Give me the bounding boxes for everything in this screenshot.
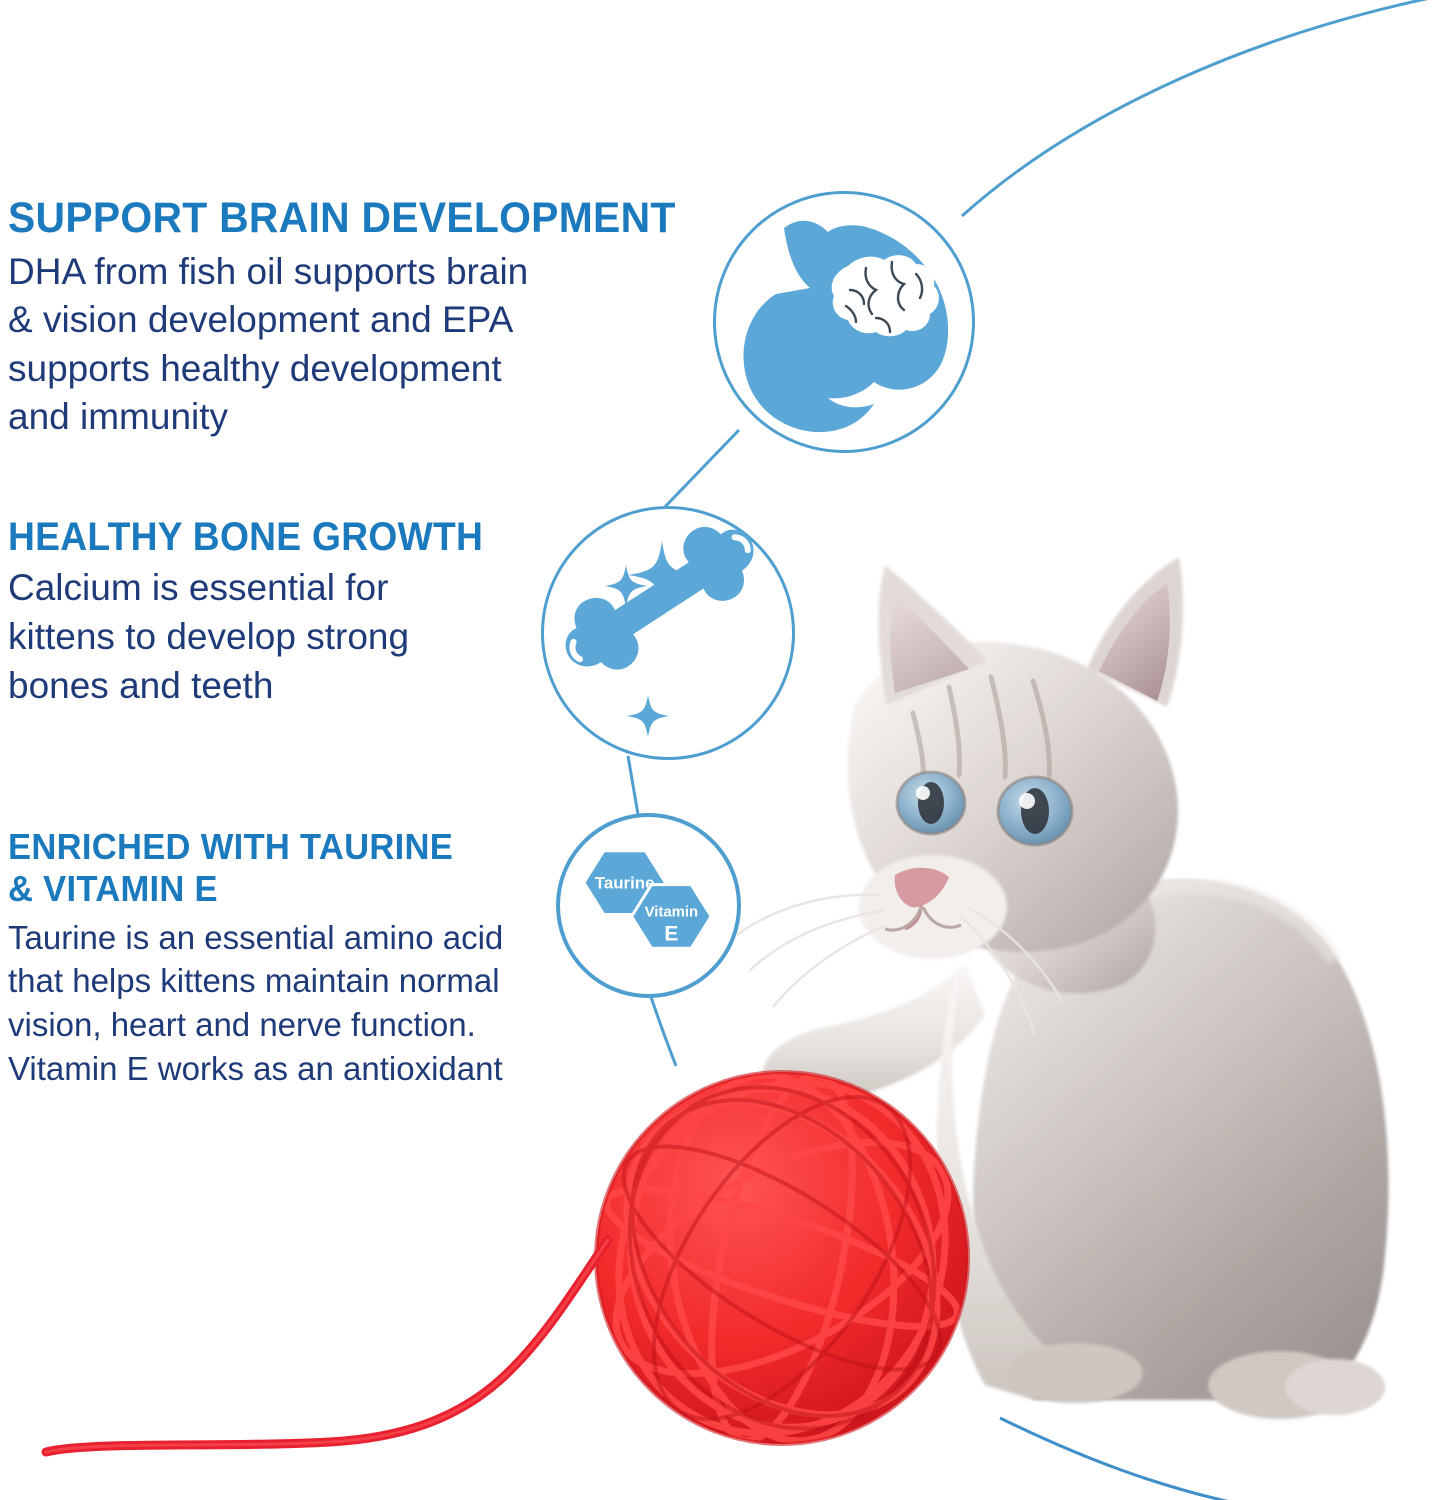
product-feature-infographic: SUPPORT BRAIN DEVELOPMENT DHA from fish … (0, 0, 1454, 1500)
icon-circle-bone (541, 506, 795, 760)
feature-body-taurine: Taurine is an essential amino acid that … (8, 916, 568, 1092)
taurine-vitamin-e-hexagons-icon: Taurine Vitamin E (584, 851, 711, 948)
hexagon-vitamin-label-line2: E (664, 922, 678, 945)
feature-title-taurine: ENRICHED WITH TAURINE & VITAMIN E (8, 826, 546, 910)
feature-title-bone: HEALTHY BONE GROWTH (8, 516, 515, 558)
feature-block-taurine: ENRICHED WITH TAURINE & VITAMIN E Taurin… (8, 826, 568, 1091)
bone-sparkle-icon (548, 509, 772, 737)
connector-taurine-down (650, 994, 676, 1066)
feature-block-bone: HEALTHY BONE GROWTH Calcium is essential… (8, 516, 553, 711)
cat-head-brain-icon (744, 221, 949, 432)
feature-body-bone: Calcium is essential for kittens to deve… (8, 564, 553, 710)
feature-body-brain: DHA from fish oil supports brain & visio… (8, 248, 720, 442)
hexagon-vitamin-label-line1: Vitamin (645, 904, 699, 920)
yarn-strand (0, 1230, 700, 1500)
hexagon-taurine-label: Taurine (595, 874, 655, 893)
icon-circle-taurine: Taurine Vitamin E (556, 813, 741, 998)
icon-circle-brain (713, 191, 975, 453)
arc-top-right (962, 0, 1454, 216)
feature-block-brain: SUPPORT BRAIN DEVELOPMENT DHA from fish … (8, 196, 720, 441)
feature-title-brain: SUPPORT BRAIN DEVELOPMENT (8, 196, 684, 242)
